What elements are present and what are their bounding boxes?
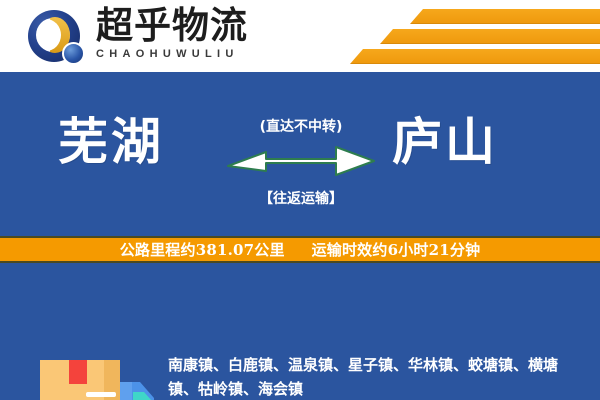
covered-towns-list: 南康镇、白鹿镇、温泉镇、星子镇、华林镇、蛟塘镇、横塘镇、牯岭镇、海会镇 bbox=[168, 353, 580, 400]
banner-header: 超乎物流 CHAOHUWULIU bbox=[0, 0, 600, 72]
logistics-route-banner: 超乎物流 CHAOHUWULIU 芜湖 庐山 (直达不中转) 【往返运输】 bbox=[0, 0, 600, 400]
stripe-2 bbox=[380, 29, 600, 44]
destination-city: 庐山 bbox=[392, 114, 498, 170]
route-middle-block: (直达不中转) 【往返运输】 bbox=[228, 116, 374, 216]
duration-text: 运输时效约6小时21分钟 bbox=[312, 241, 481, 259]
direct-transport-note: (直达不中转) bbox=[228, 116, 374, 136]
stripe-3 bbox=[350, 49, 600, 64]
stripe-1 bbox=[410, 9, 600, 24]
bidirectional-arrow-icon bbox=[226, 144, 376, 178]
chaohu-circle-logo-icon bbox=[26, 8, 90, 66]
company-name-en: CHAOHUWULIU bbox=[96, 47, 271, 61]
route-section: 芜湖 庐山 (直达不中转) 【往返运输】 bbox=[0, 72, 600, 236]
route-info-bar: 公路里程约381.07公里 运输时效约6小时21分钟 bbox=[0, 236, 600, 263]
delivery-truck-icon bbox=[28, 354, 158, 400]
distance-text: 公路里程约381.07公里 bbox=[120, 241, 285, 259]
decorative-stripes bbox=[330, 8, 600, 66]
info-bar-text: 公路里程约381.07公里 运输时效约6小时21分钟 bbox=[120, 239, 481, 260]
origin-city: 芜湖 bbox=[58, 114, 164, 170]
brand-text-block: 超乎物流 CHAOHUWULIU bbox=[96, 6, 271, 61]
roundtrip-transport-note: 【往返运输】 bbox=[228, 188, 374, 208]
company-name-cn: 超乎物流 bbox=[96, 6, 271, 46]
logo-sphere-dot-icon bbox=[62, 42, 85, 65]
